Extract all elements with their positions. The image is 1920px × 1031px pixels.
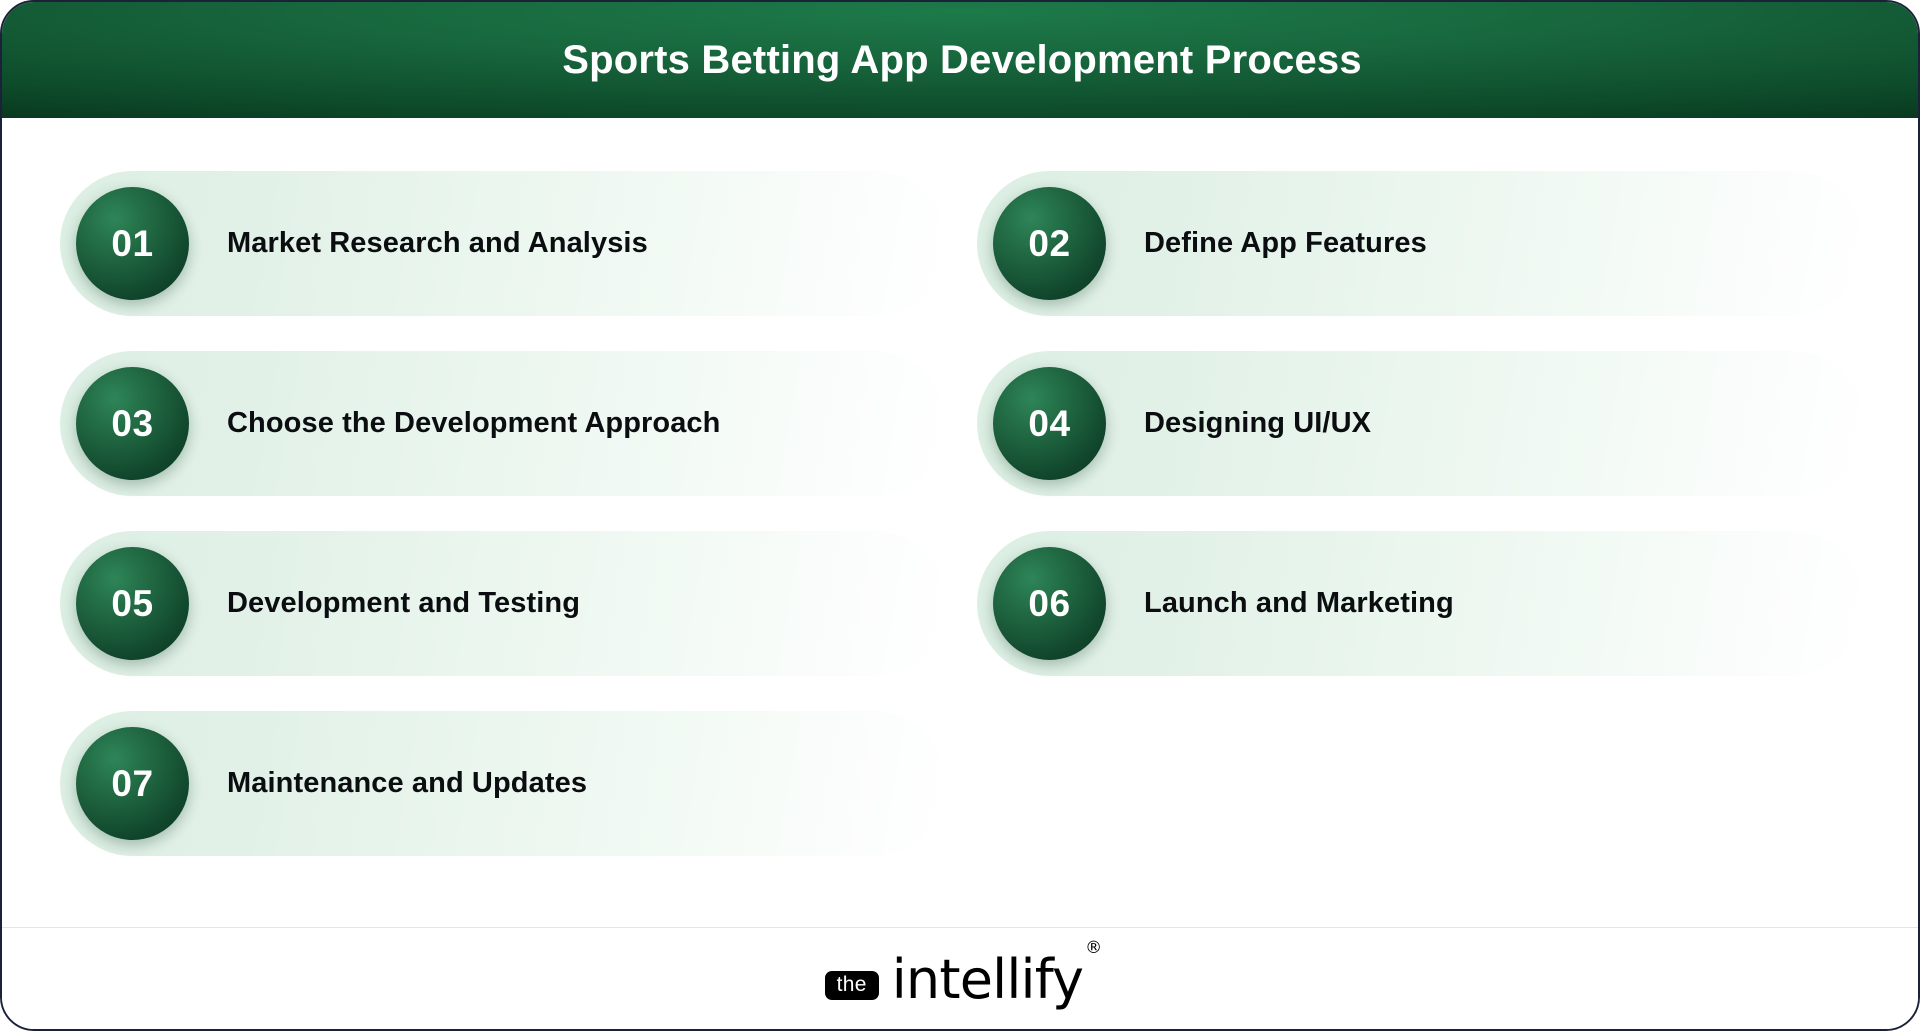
- step-number-label: 04: [1028, 405, 1070, 442]
- step-number-label: 03: [111, 405, 153, 442]
- logo-wordmark-text: intellify: [892, 948, 1083, 1011]
- step-title-label: Maintenance and Updates: [227, 767, 587, 800]
- step-card-03[interactable]: 03 Choose the Development Approach: [60, 351, 947, 496]
- step-badge-03: 03: [76, 367, 189, 480]
- step-number-label: 07: [111, 765, 153, 802]
- step-title-label: Choose the Development Approach: [227, 407, 720, 440]
- step-card-02[interactable]: 02 Define App Features: [977, 171, 1864, 316]
- step-number-label: 02: [1028, 225, 1070, 262]
- step-card-05[interactable]: 05 Development and Testing: [60, 531, 947, 676]
- step-title-label: Launch and Marketing: [1144, 587, 1454, 620]
- step-title-label: Market Research and Analysis: [227, 227, 648, 260]
- infographic-page: Sports Betting App Development Process 0…: [0, 0, 1920, 1031]
- step-title-label: Development and Testing: [227, 587, 580, 620]
- steps-section: 01 Market Research and Analysis 02 Defin…: [2, 118, 1920, 927]
- logo-the-badge: the: [825, 971, 879, 1000]
- step-card-06[interactable]: 06 Launch and Marketing: [977, 531, 1864, 676]
- step-badge-07: 07: [76, 727, 189, 840]
- step-title-label: Define App Features: [1144, 227, 1427, 260]
- page-title: Sports Betting App Development Process: [562, 38, 1362, 83]
- step-badge-06: 06: [993, 547, 1106, 660]
- step-card-01[interactable]: 01 Market Research and Analysis: [60, 171, 947, 316]
- logo-wordmark: intellify®: [892, 953, 1100, 1007]
- step-badge-01: 01: [76, 187, 189, 300]
- header-banner: Sports Betting App Development Process: [2, 2, 1920, 118]
- step-number-label: 01: [111, 225, 153, 262]
- steps-grid: 01 Market Research and Analysis 02 Defin…: [60, 171, 1864, 856]
- step-number-label: 06: [1028, 585, 1070, 622]
- step-badge-05: 05: [76, 547, 189, 660]
- footer-bar: the intellify®: [2, 928, 1920, 1031]
- registered-trademark-icon: ®: [1085, 938, 1101, 958]
- step-badge-04: 04: [993, 367, 1106, 480]
- step-number-label: 05: [111, 585, 153, 622]
- step-title-label: Designing UI/UX: [1144, 407, 1371, 440]
- step-card-07[interactable]: 07 Maintenance and Updates: [60, 711, 947, 856]
- brand-logo[interactable]: the intellify®: [825, 953, 1100, 1007]
- step-card-04[interactable]: 04 Designing UI/UX: [977, 351, 1864, 496]
- step-badge-02: 02: [993, 187, 1106, 300]
